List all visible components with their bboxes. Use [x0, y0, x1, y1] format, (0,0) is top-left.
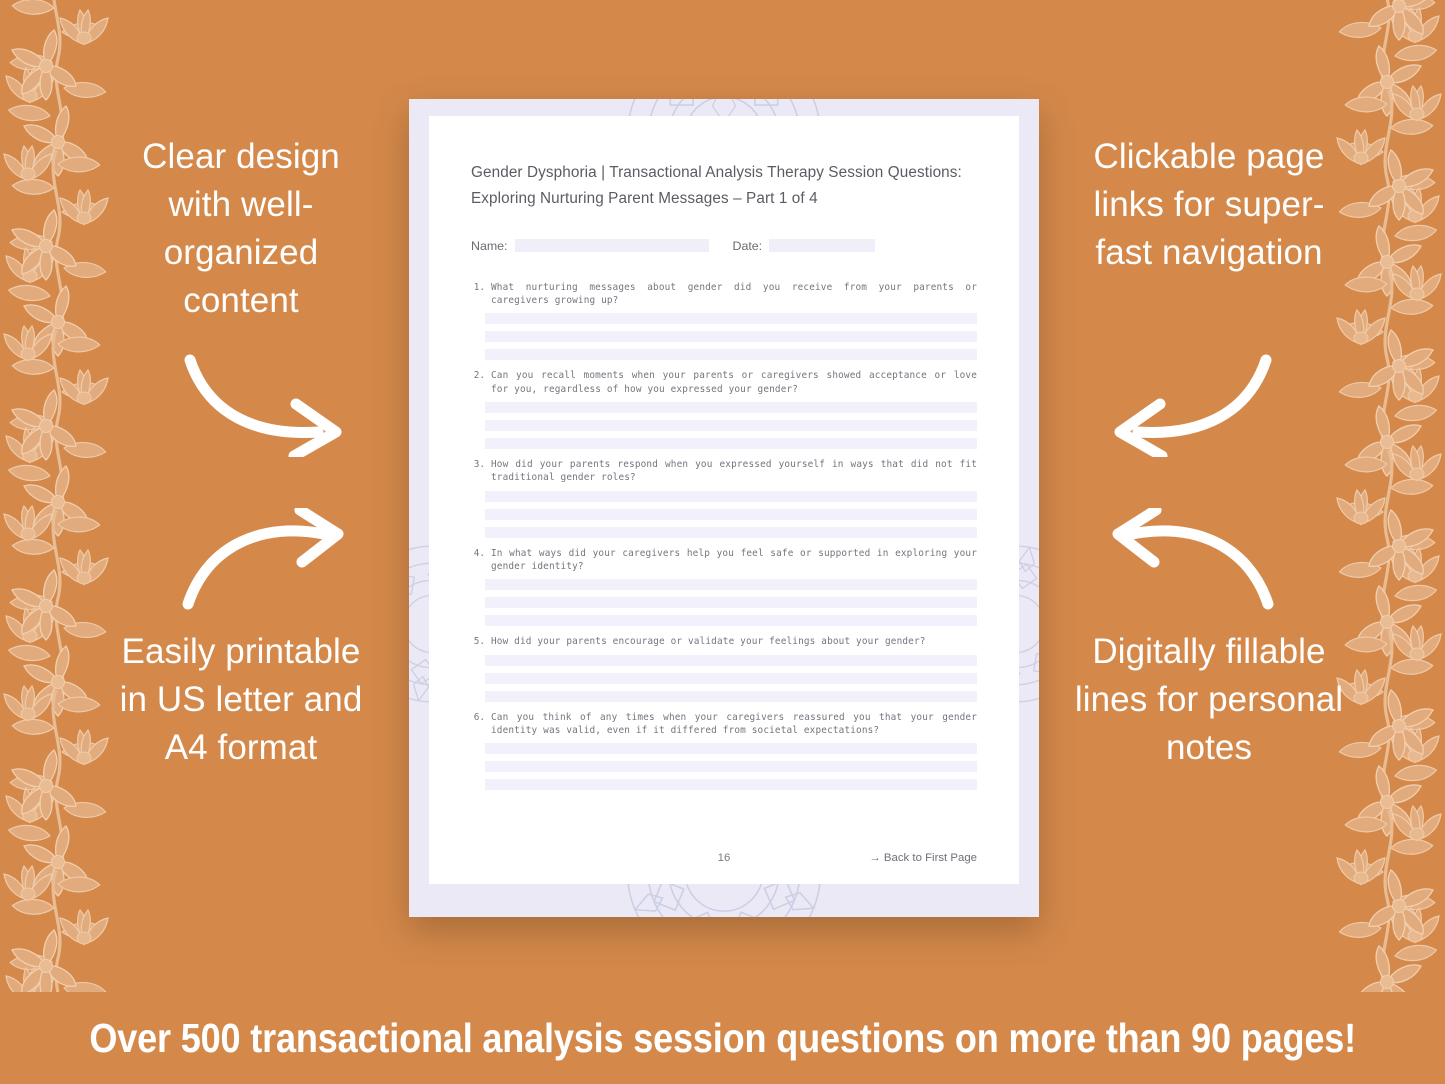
curved-arrow-left-down-icon: [1098, 352, 1278, 457]
question-number: 3.: [471, 458, 491, 485]
curved-arrow-right-down-icon: [178, 352, 358, 457]
name-date-row: Name: Date:: [471, 239, 977, 253]
floral-vine-icon: [0, 0, 112, 1084]
promo-top-right: Clickable page links for super-fast navi…: [1073, 133, 1345, 277]
question-number: 4.: [471, 547, 491, 574]
page-footer: 16 → Back to First Page: [471, 852, 977, 864]
answer-line[interactable]: [485, 673, 977, 684]
page-title: Gender Dysphoria | Transactional Analysi…: [471, 160, 977, 213]
bottom-banner: Over 500 transactional analysis session …: [0, 992, 1445, 1084]
page-number: 16: [718, 852, 731, 864]
question-row: 1.What nurturing messages about gender d…: [471, 281, 977, 308]
question-number: 5.: [471, 635, 491, 648]
curved-arrow-right-up-icon: [178, 508, 358, 613]
floral-vine-pattern: [4, 0, 108, 1076]
answer-line[interactable]: [485, 349, 977, 360]
question-row: 3.How did your parents respond when you …: [471, 458, 977, 485]
name-label: Name:: [471, 239, 508, 253]
question-item: 6.Can you think of any times when your c…: [471, 711, 977, 791]
answer-line[interactable]: [485, 761, 977, 772]
answer-lines: [485, 743, 977, 790]
question-text: How did your parents respond when you ex…: [491, 458, 977, 485]
question-number: 2.: [471, 369, 491, 396]
answer-line[interactable]: [485, 779, 977, 790]
answer-lines: [485, 579, 977, 626]
question-item: 1.What nurturing messages about gender d…: [471, 281, 977, 361]
question-item: 5.How did your parents encourage or vali…: [471, 635, 977, 701]
name-input[interactable]: [515, 239, 709, 252]
date-label: Date:: [733, 239, 763, 253]
question-row: 5.How did your parents encourage or vali…: [471, 635, 977, 648]
question-text: How did your parents encourage or valida…: [491, 635, 977, 648]
question-row: 6.Can you think of any times when your c…: [471, 711, 977, 738]
floral-vine-icon-right: [1333, 0, 1445, 1084]
question-item: 3.How did your parents respond when you …: [471, 458, 977, 538]
worksheet-page: Gender Dysphoria | Transactional Analysi…: [429, 116, 1019, 884]
question-text: What nurturing messages about gender did…: [491, 281, 977, 308]
question-row: 4.In what ways did your caregivers help …: [471, 547, 977, 574]
answer-line[interactable]: [485, 402, 977, 413]
answer-line[interactable]: [485, 655, 977, 666]
promo-top-left: Clear design with well-organized content: [108, 133, 374, 325]
back-to-first-page-link[interactable]: → Back to First Page: [869, 852, 977, 864]
answer-line[interactable]: [485, 509, 977, 520]
answer-lines: [485, 655, 977, 702]
floral-vine-pattern-mirrored: [1337, 0, 1441, 1016]
answer-line[interactable]: [485, 438, 977, 449]
question-text: Can you recall moments when your parents…: [491, 369, 977, 396]
question-item: 2.Can you recall moments when your paren…: [471, 369, 977, 449]
date-input[interactable]: [769, 239, 875, 252]
question-list: 1.What nurturing messages about gender d…: [471, 281, 977, 791]
promo-bottom-right: Digitally fillable lines for personal no…: [1073, 628, 1345, 772]
answer-lines: [485, 402, 977, 449]
answer-line[interactable]: [485, 420, 977, 431]
answer-line[interactable]: [485, 527, 977, 538]
question-item: 4.In what ways did your caregivers help …: [471, 547, 977, 627]
answer-line[interactable]: [485, 615, 977, 626]
question-row: 2.Can you recall moments when your paren…: [471, 369, 977, 396]
answer-lines: [485, 313, 977, 360]
curved-arrow-left-up-icon: [1098, 508, 1278, 613]
answer-line[interactable]: [485, 579, 977, 590]
answer-line[interactable]: [485, 597, 977, 608]
question-text: Can you think of any times when your car…: [491, 711, 977, 738]
answer-line[interactable]: [485, 691, 977, 702]
promo-bottom-left: Easily printable in US letter and A4 for…: [108, 628, 374, 772]
question-number: 1.: [471, 281, 491, 308]
answer-lines: [485, 491, 977, 538]
question-text: In what ways did your caregivers help yo…: [491, 547, 977, 574]
answer-line[interactable]: [485, 491, 977, 502]
banner-text: Over 500 transactional analysis session …: [89, 1015, 1356, 1062]
answer-line[interactable]: [485, 313, 977, 324]
answer-line[interactable]: [485, 743, 977, 754]
document-mockup: Gender Dysphoria | Transactional Analysi…: [409, 99, 1039, 917]
question-number: 6.: [471, 711, 491, 738]
answer-line[interactable]: [485, 331, 977, 342]
